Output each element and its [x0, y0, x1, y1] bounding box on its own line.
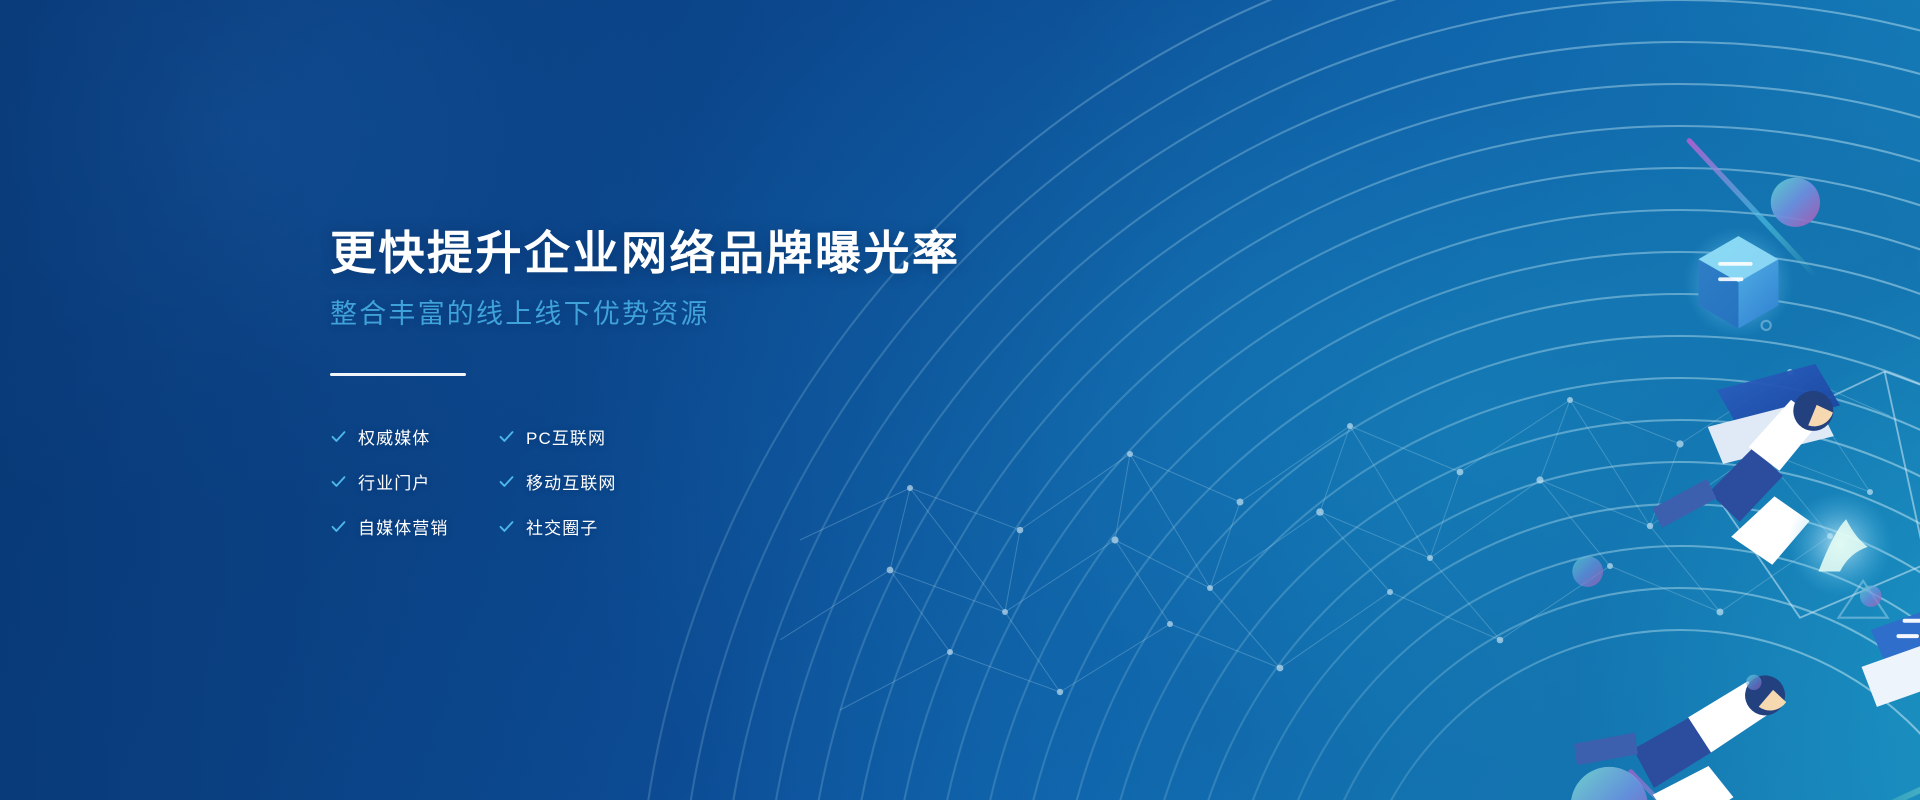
light-swoosh-secondary	[1846, 707, 1920, 800]
feature-item-social-circles: 社交圈子	[498, 514, 950, 539]
check-icon	[330, 428, 347, 445]
rocket-burst-glow	[1788, 492, 1893, 597]
check-icon	[330, 518, 347, 535]
feature-list: 权威媒体 PC互联网 行业门户 移动互联网	[330, 424, 950, 539]
light-swoosh	[1831, 572, 1920, 800]
feature-label: 权威媒体	[358, 424, 430, 449]
check-icon	[498, 518, 515, 535]
tablet-device	[1862, 599, 1920, 707]
feature-item-pc-internet: PC互联网	[498, 424, 950, 449]
title-divider	[330, 373, 466, 376]
business-network-illustration	[1040, 110, 1920, 800]
hero-content: 更快提升企业网络品牌曝光率 整合丰富的线上线下优势资源 权威媒体 PC互联网	[330, 226, 950, 539]
feature-label: PC互联网	[526, 424, 606, 449]
feature-label: 社交圈子	[526, 514, 598, 539]
page-title: 更快提升企业网络品牌曝光率	[330, 226, 950, 280]
feature-item-industry-portal: 行业门户	[330, 469, 498, 494]
comet-streak	[1631, 141, 1816, 800]
diving-person-lower	[1567, 671, 1814, 800]
feature-item-self-media-marketing: 自媒体营销	[330, 514, 498, 539]
feature-item-mobile-internet: 移动互联网	[498, 469, 950, 494]
check-icon	[498, 428, 515, 445]
hero-banner: 更快提升企业网络品牌曝光率 整合丰富的线上线下优势资源 权威媒体 PC互联网	[0, 0, 1920, 800]
decorative-outlines	[1762, 281, 1920, 739]
cube-icon	[1683, 227, 1794, 338]
page-subtitle: 整合丰富的线上线下优势资源	[330, 298, 950, 330]
feature-label: 行业门户	[358, 469, 430, 494]
illustration-connector-lines	[1715, 341, 1920, 633]
feature-label: 移动互联网	[526, 469, 617, 494]
feature-label: 自媒体营销	[358, 514, 449, 539]
check-icon	[498, 473, 515, 490]
diving-person-upper	[1643, 382, 1888, 604]
gradient-spheres	[1571, 127, 1920, 800]
laptop-device	[1708, 364, 1840, 464]
feature-item-authoritative-media: 权威媒体	[330, 424, 498, 449]
check-icon	[330, 473, 347, 490]
